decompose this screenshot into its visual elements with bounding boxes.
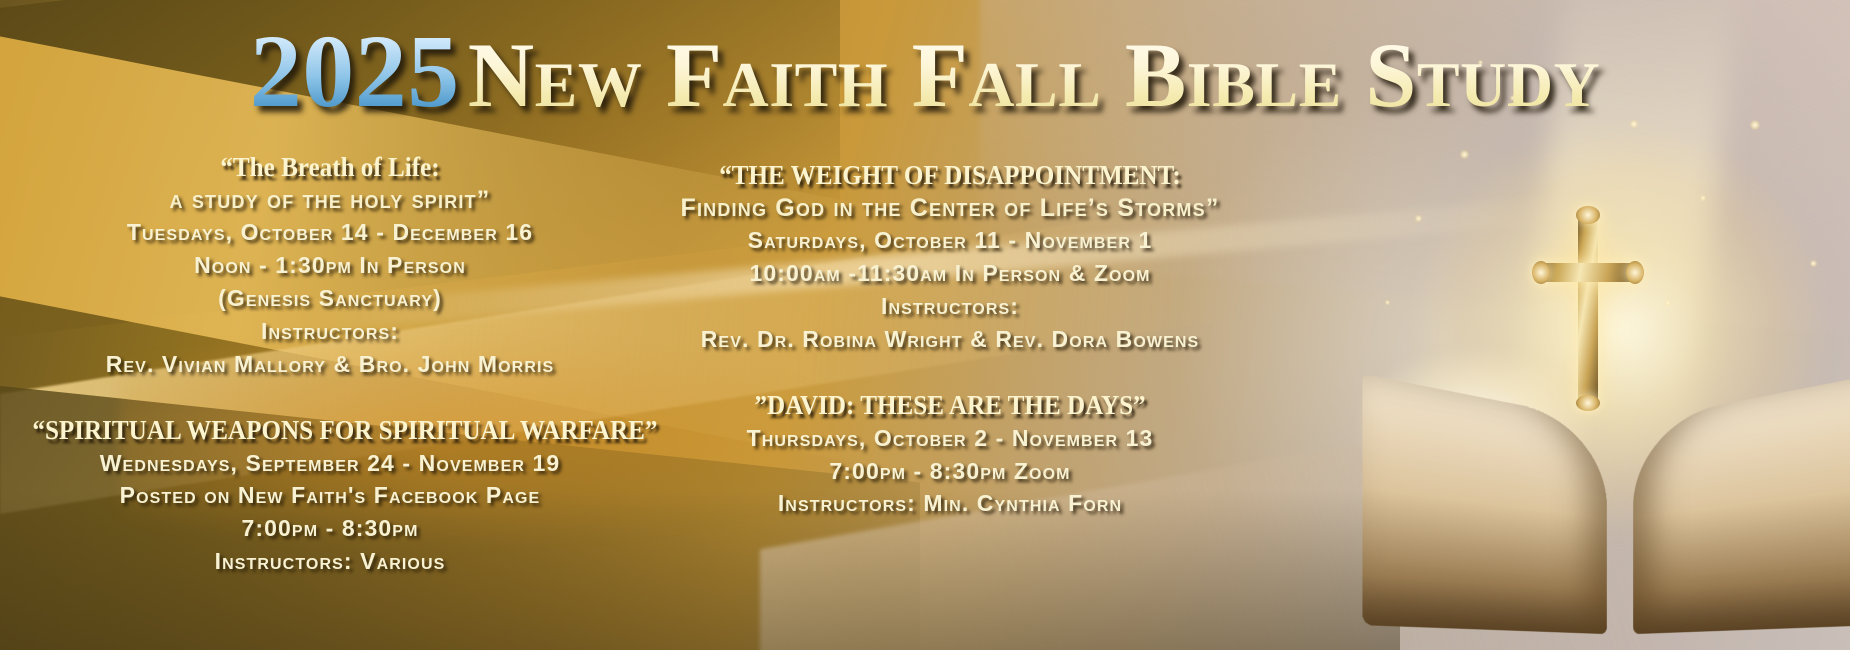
sparkle-decor [1810,260,1817,267]
study-detail-line: Tuesdays, October 14 - December 16 [10,216,650,249]
bible-page-left [1362,374,1606,634]
study-block-breath-of-life: “The Breath of Life: a study of the holy… [10,152,650,381]
cross-horizontal-bar [1540,263,1636,282]
study-heading: “THE WEIGHT OF DISAPPOINTMENT: [662,160,1239,192]
cross-vertical-bar [1578,215,1598,405]
study-instructors-names: Rev. Dr. Robina Wright & Rev. Dora Bowen… [640,323,1260,356]
study-detail-line: Noon - 1:30pm In Person [10,249,650,282]
study-instructors-names: Rev. Vivian Mallory & Bro. John Morris [10,348,650,381]
study-instructors-label: Instructors: [640,290,1260,323]
study-heading: “The Breath of Life: [32,152,627,184]
cross-icon [1540,215,1636,405]
study-detail-line: 7:00pm - 8:30pm [10,512,650,545]
cross-cap-right [1626,261,1644,284]
study-subheading: a study of the holy spirit” [10,184,650,217]
study-instructors-names: Instructors: Various [10,545,650,578]
studies-column-right: “THE WEIGHT OF DISAPPOINTMENT: Finding G… [640,160,1260,520]
sparkle-decor [1460,150,1469,159]
study-detail-line: Posted on New Faith's Facebook Page [10,479,650,512]
study-subheading: Finding God in the Center of Life’s Stor… [640,192,1260,225]
bible-page-right [1633,374,1850,634]
study-block-spiritual-weapons: “SPIRITUAL WEAPONS FOR SPIRITUAL WARFARE… [10,415,650,578]
study-instructors-names: Instructors: Min. Cynthia Forn [640,487,1260,520]
studies-column-left: “The Breath of Life: a study of the holy… [10,152,650,578]
title-year: 2025 [250,14,468,129]
sparkle-decor [1415,215,1422,222]
page-glow-decor [1360,350,1590,500]
cross-cap-top [1576,206,1600,224]
study-block-david-these-are-the-days: ”DAVID: THESE ARE THE DAYS” Thursdays, O… [640,390,1260,520]
glow-halo-decor [1410,120,1830,540]
banner-title: 2025New Faith Fall Bible Study [0,20,1850,124]
sparkle-decor [1700,195,1706,201]
study-heading: ”DAVID: THESE ARE THE DAYS” [662,390,1239,422]
study-detail-line: Thursdays, October 2 - November 13 [640,422,1260,455]
cross-cap-left [1532,261,1550,284]
title-words: New Faith Fall Bible Study [468,24,1601,126]
study-detail-line: 7:00pm - 8:30pm Zoom [640,455,1260,488]
sparkle-decor [1665,300,1671,306]
study-heading: “SPIRITUAL WEAPONS FOR SPIRITUAL WARFARE… [32,415,627,447]
study-detail-line: 10:00am -11:30am In Person & Zoom [640,257,1260,290]
study-detail-line: (Genesis Sanctuary) [10,282,650,315]
bible-study-banner: 2025New Faith Fall Bible Study “The Brea… [0,0,1850,650]
open-bible-icon [1360,330,1850,630]
study-block-weight-of-disappointment: “THE WEIGHT OF DISAPPOINTMENT: Finding G… [640,160,1260,356]
study-instructors-label: Instructors: [10,315,650,348]
study-detail-line: Wednesdays, September 24 - November 19 [10,447,650,480]
cross-cap-bottom [1576,395,1600,411]
study-detail-line: Saturdays, October 11 - November 1 [640,224,1260,257]
sparkle-decor [1385,300,1390,305]
